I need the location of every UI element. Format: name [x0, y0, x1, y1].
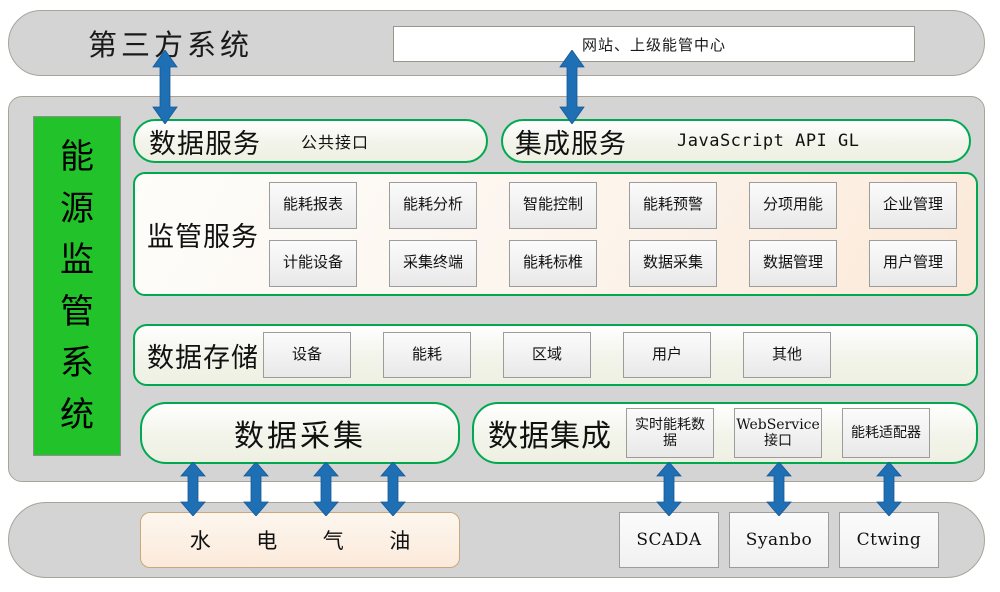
external-system-scada[interactable]: SCADA: [619, 512, 719, 568]
arrow-third-party-to-data-service: [152, 50, 178, 124]
energy-source-box: 水 电 气 油: [140, 512, 460, 568]
data-storage-bar: 数据存储 设备 能耗 区域 用户 其他: [133, 324, 978, 386]
storage-cell[interactable]: 其他: [743, 332, 831, 378]
storage-cell[interactable]: 区域: [503, 332, 591, 378]
supervision-cell[interactable]: 数据管理: [749, 240, 837, 287]
storage-cell[interactable]: 用户: [623, 332, 711, 378]
data-integration-bar: 数据集成 实时能耗数据 WebService接口 能耗适配器: [472, 402, 978, 464]
external-system-ctwing[interactable]: Ctwing: [839, 512, 939, 568]
sidebar-char-6: 统: [60, 398, 94, 432]
arrow-acquisition-water: [180, 462, 206, 516]
arrow-acquisition-gas: [313, 462, 339, 516]
supervision-service-panel: 监管服务 能耗报表 能耗分析 智能控制 能耗预警 分项用能 企业管理 计能设备 …: [133, 172, 978, 296]
energy-source-water[interactable]: 水: [190, 525, 211, 555]
data-integration-label: 数据集成: [488, 411, 612, 455]
arrow-integration-scada: [656, 462, 682, 516]
supervision-cell[interactable]: 企业管理: [869, 182, 957, 229]
energy-source-oil[interactable]: 油: [389, 525, 410, 555]
sidebar-char-5: 系: [60, 346, 94, 380]
data-service-sub-label: 公共接口: [301, 129, 369, 153]
sidebar-system-title: 能 源 监 管 系 统: [33, 116, 121, 456]
data-acquisition-label: 数据采集: [142, 411, 458, 455]
arrow-external-target-to-integration-service: [559, 50, 585, 124]
data-integration-cell-group: 实时能耗数据 WebService接口 能耗适配器: [626, 408, 930, 458]
external-system-syanbo[interactable]: Syanbo: [729, 512, 829, 568]
external-target-box: 网站、上级能管中心: [393, 26, 915, 62]
supervision-cell[interactable]: 数据采集: [629, 240, 717, 287]
integration-cell[interactable]: 能耗适配器: [842, 408, 930, 458]
arrow-acquisition-oil: [380, 462, 406, 516]
integration-service-bar[interactable]: 集成服务 JavaScript API GL: [501, 119, 971, 163]
storage-cell[interactable]: 能耗: [383, 332, 471, 378]
supervision-cell[interactable]: 智能控制: [509, 182, 597, 229]
energy-source-electricity[interactable]: 电: [256, 525, 277, 555]
diagram-canvas: 第三方系统 网站、上级能管中心 能 源 监 管 系 统 数据服务 公共接口 集成…: [0, 0, 1000, 592]
supervision-service-label: 监管服务: [147, 215, 259, 254]
energy-source-gas[interactable]: 气: [323, 525, 344, 555]
data-service-label: 数据服务: [149, 122, 261, 161]
supervision-cell[interactable]: 能耗标椎: [509, 240, 597, 287]
data-storage-label: 数据存储: [147, 336, 259, 375]
data-acquisition-bar[interactable]: 数据采集: [140, 402, 460, 464]
supervision-cell-grid: 能耗报表 能耗分析 智能控制 能耗预警 分项用能 企业管理 计能设备 采集终端 …: [269, 182, 957, 287]
sidebar-char-4: 管: [60, 295, 94, 329]
integration-cell[interactable]: 实时能耗数据: [626, 408, 714, 458]
supervision-cell[interactable]: 采集终端: [389, 240, 477, 287]
supervision-cell[interactable]: 能耗报表: [269, 182, 357, 229]
sidebar-char-2: 源: [60, 192, 94, 226]
arrow-integration-ctwing: [876, 462, 902, 516]
integration-service-label: 集成服务: [515, 122, 627, 161]
arrow-integration-syanbo: [766, 462, 792, 516]
sidebar-char-1: 能: [60, 140, 94, 174]
data-storage-cell-group: 设备 能耗 区域 用户 其他: [263, 332, 831, 378]
supervision-cell[interactable]: 能耗预警: [629, 182, 717, 229]
supervision-cell[interactable]: 能耗分析: [389, 182, 477, 229]
sidebar-char-3: 监: [60, 243, 94, 277]
supervision-cell[interactable]: 计能设备: [269, 240, 357, 287]
supervision-cell[interactable]: 分项用能: [749, 182, 837, 229]
integration-cell[interactable]: WebService接口: [734, 408, 822, 458]
data-service-bar[interactable]: 数据服务 公共接口: [133, 119, 488, 163]
integration-service-sub-label: JavaScript API GL: [677, 131, 860, 151]
supervision-cell[interactable]: 用户管理: [869, 240, 957, 287]
arrow-acquisition-electricity: [243, 462, 269, 516]
storage-cell[interactable]: 设备: [263, 332, 351, 378]
